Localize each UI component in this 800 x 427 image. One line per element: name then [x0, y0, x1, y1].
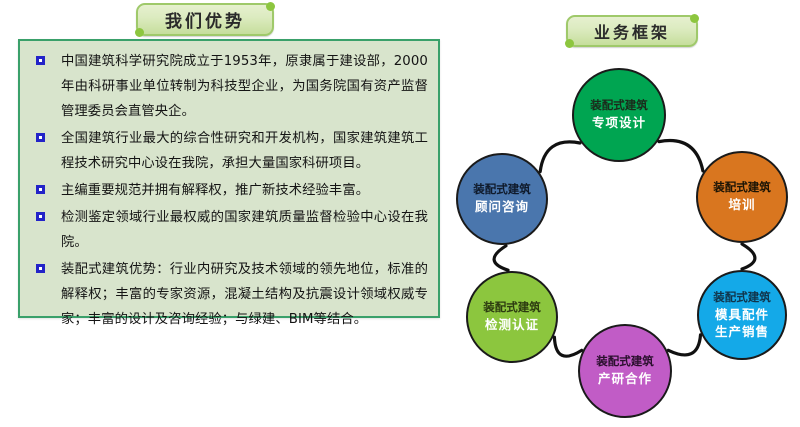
banner-nub-icon — [266, 2, 275, 11]
advantages-box: 中国建筑科学研究院成立于1953年，原隶属于建设部，2000年由科研事业单位转制… — [18, 39, 440, 318]
left-banner-label: 我们优势 — [165, 7, 245, 32]
node-line-2: 模具配件 — [715, 306, 769, 323]
diagram-node-mold[interactable]: 装配式建筑模具配件生产销售 — [697, 270, 787, 360]
list-item: 中国建筑科学研究院成立于1953年，原隶属于建设部，2000年由科研事业单位转制… — [28, 49, 428, 124]
list-item: 装配式建筑优势：行业内研究及技术领域的领先地位，标准的解释权；丰富的专家资源，混… — [28, 257, 428, 332]
node-line-1: 装配式建筑 — [713, 290, 771, 306]
slide-canvas: 我们优势 中国建筑科学研究院成立于1953年，原隶属于建设部，2000年由科研事… — [0, 0, 800, 427]
node-line-2: 产研合作 — [598, 370, 652, 387]
node-line-2: 顾问咨询 — [475, 198, 529, 215]
list-item-text: 装配式建筑优势：行业内研究及技术领域的领先地位，标准的解释权；丰富的专家资源，混… — [61, 257, 428, 332]
list-item: 检测鉴定领域行业最权威的国家建筑质量监督检验中心设在我院。 — [28, 205, 428, 255]
list-item-text: 中国建筑科学研究院成立于1953年，原隶属于建设部，2000年由科研事业单位转制… — [61, 49, 428, 124]
node-line-1: 装配式建筑 — [483, 300, 541, 316]
diagram-node-testing[interactable]: 装配式建筑检测认证 — [466, 271, 558, 363]
connector-arc — [659, 141, 703, 171]
square-bullet-icon — [36, 264, 45, 273]
business-framework-diagram: 装配式建筑专项设计装配式建筑培训装配式建筑模具配件生产销售装配式建筑产研合作装配… — [440, 40, 800, 427]
diagram-node-training[interactable]: 装配式建筑培训 — [696, 151, 788, 243]
advantages-list: 中国建筑科学研究院成立于1953年，原隶属于建设部，2000年由科研事业单位转制… — [28, 49, 428, 332]
square-bullet-icon — [36, 185, 45, 194]
connector-arc — [494, 246, 508, 270]
connector-arc — [540, 142, 580, 172]
square-bullet-icon — [36, 56, 45, 65]
list-item-text: 主编重要规范并拥有解释权，推广新技术经验丰富。 — [61, 178, 428, 203]
node-line-1: 装配式建筑 — [473, 182, 531, 198]
node-line-2: 专项设计 — [592, 114, 646, 131]
connector-arc — [554, 337, 581, 356]
list-item: 全国建筑行业最大的综合性研究和开发机构，国家建筑建筑工程技术研究中心设在我院，承… — [28, 126, 428, 176]
node-line-1: 装配式建筑 — [590, 98, 648, 114]
list-item: 主编重要规范并拥有解释权，推广新技术经验丰富。 — [28, 178, 428, 203]
banner-nub-icon — [690, 14, 699, 23]
list-item-text: 检测鉴定领域行业最权威的国家建筑质量监督检验中心设在我院。 — [61, 205, 428, 255]
left-banner-title: 我们优势 — [136, 3, 274, 36]
connector-arc — [668, 335, 700, 355]
banner-nub-icon — [135, 28, 144, 37]
node-line-1: 装配式建筑 — [713, 180, 771, 196]
list-item-text: 全国建筑行业最大的综合性研究和开发机构，国家建筑建筑工程技术研究中心设在我院，承… — [61, 126, 428, 176]
diagram-node-coop[interactable]: 装配式建筑产研合作 — [578, 324, 672, 418]
node-line-2: 培训 — [728, 196, 755, 213]
node-line-2: 检测认证 — [485, 316, 539, 333]
square-bullet-icon — [36, 133, 45, 142]
node-line-1: 装配式建筑 — [596, 354, 654, 370]
diagram-node-design[interactable]: 装配式建筑专项设计 — [572, 68, 666, 162]
square-bullet-icon — [36, 212, 45, 221]
node-line-3: 生产销售 — [715, 323, 769, 340]
diagram-node-consulting[interactable]: 装配式建筑顾问咨询 — [456, 153, 548, 245]
connector-arc — [742, 244, 755, 269]
